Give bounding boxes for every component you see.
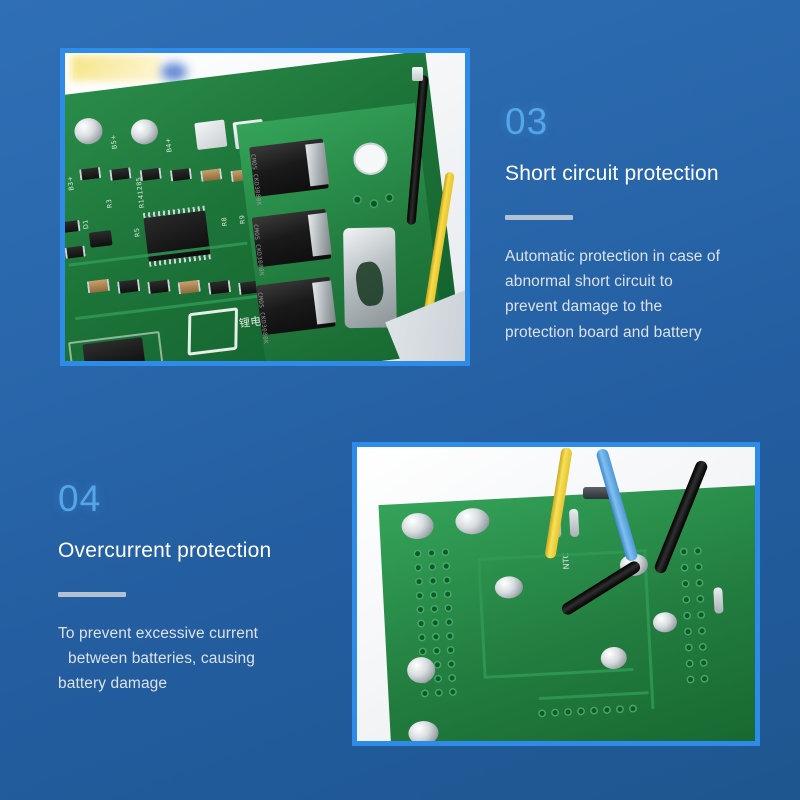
silk-r8: R8 bbox=[220, 217, 229, 227]
silk-b3: B3+ bbox=[66, 175, 76, 191]
pcb-front-photo-inner: B5+ B4+ B3+ NTC R14 R3 R141285 C8 bbox=[65, 53, 465, 361]
divider-rule-03 bbox=[505, 215, 573, 220]
wire-solder-pad bbox=[652, 612, 677, 633]
pcb-trace bbox=[477, 558, 486, 678]
smd-component bbox=[109, 167, 131, 180]
body-line: Automatic protection in case of bbox=[505, 244, 795, 269]
pcb-front-photo: B5+ B4+ B3+ NTC R14 R3 R141285 C8 bbox=[60, 48, 470, 366]
pcb-trace bbox=[484, 668, 634, 679]
body-line: protection board and battery bbox=[505, 320, 795, 345]
solder-joint bbox=[401, 512, 434, 540]
body-line: abnormal short circuit to bbox=[505, 269, 795, 294]
smd-component bbox=[147, 279, 170, 294]
silk-b4: B4+ bbox=[164, 137, 174, 153]
smd-component bbox=[79, 167, 101, 180]
blue-wire-blur bbox=[161, 63, 187, 81]
smd-component bbox=[178, 280, 201, 295]
pcb-back-photo-inner: NTC bbox=[357, 447, 755, 741]
body-line: between batteries, causing bbox=[58, 646, 358, 671]
feature-title-04: Overcurrent protection bbox=[58, 538, 358, 563]
edge-pad bbox=[713, 587, 723, 613]
solder-joint bbox=[455, 507, 490, 535]
feature-block-04: 04 Overcurrent protection To prevent exc… bbox=[58, 480, 358, 697]
smd-component bbox=[117, 279, 140, 294]
body-line: prevent damage to the bbox=[505, 294, 795, 319]
solder-joint bbox=[494, 576, 523, 599]
silk-r141285: R141285 bbox=[134, 176, 146, 208]
mosfet-2: CMOS CKD3080K bbox=[252, 209, 332, 268]
pcb-trace bbox=[539, 691, 649, 700]
silk-r5: R5 bbox=[133, 227, 142, 237]
ic-legs-top bbox=[143, 206, 205, 219]
pcb-trace bbox=[643, 549, 654, 709]
mosfet-3: CMOS CKD3080K bbox=[256, 277, 336, 336]
brand-logo bbox=[188, 307, 238, 355]
feature-number-03: 03 bbox=[505, 103, 795, 140]
feature-body-04: To prevent excessive current between bat… bbox=[58, 621, 358, 696]
feature-number-04: 04 bbox=[58, 480, 358, 517]
poster-canvas: B5+ B4+ B3+ NTC R14 R3 R141285 C8 bbox=[0, 0, 800, 800]
smd-component bbox=[200, 168, 222, 181]
body-line: battery damage bbox=[58, 671, 358, 696]
silk-outline bbox=[68, 331, 164, 361]
smd-component bbox=[170, 168, 192, 181]
silk-d1: D1 bbox=[81, 219, 90, 230]
mosfet-1: CMOS CKD3080K bbox=[249, 138, 329, 197]
smd-component bbox=[87, 279, 110, 294]
body-line: To prevent excessive current bbox=[58, 621, 358, 646]
feature-title-03: Short circuit protection bbox=[505, 161, 795, 186]
solder-joint bbox=[406, 656, 435, 683]
ntc-pad bbox=[569, 509, 579, 537]
wire-solder-pad bbox=[600, 646, 627, 669]
pcb-back-photo: NTC bbox=[352, 442, 760, 746]
silk-r3: R3 bbox=[105, 198, 114, 208]
ic-legs-bottom bbox=[149, 254, 211, 267]
wire-tip bbox=[412, 67, 423, 81]
smd-component bbox=[65, 220, 81, 233]
diode bbox=[89, 230, 113, 248]
smd-component bbox=[65, 246, 86, 259]
solder-pad bbox=[73, 117, 104, 146]
solder-joint bbox=[408, 720, 439, 741]
yellow-wire-blur bbox=[71, 55, 161, 81]
feature-body-03: Automatic protection in case of abnormal… bbox=[505, 244, 795, 344]
feature-block-03: 03 Short circuit protection Automatic pr… bbox=[505, 103, 795, 345]
smd-component bbox=[208, 280, 231, 295]
silk-b5: B5+ bbox=[109, 134, 119, 150]
smd-component bbox=[140, 168, 162, 181]
test-pad bbox=[194, 120, 227, 150]
solder-pad bbox=[130, 118, 160, 146]
silk-r9: R9 bbox=[238, 214, 247, 224]
divider-rule-04 bbox=[58, 592, 126, 597]
